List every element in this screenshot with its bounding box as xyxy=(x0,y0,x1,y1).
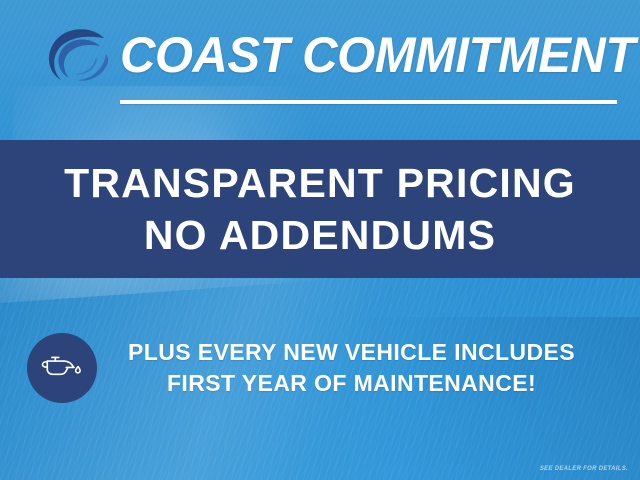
offer-line-1: PLUS EVERY NEW VEHICLE INCLUDES xyxy=(97,337,606,368)
page-title: COAST COMMITMENT xyxy=(120,22,612,88)
banner-header: COAST COMMITMENT xyxy=(0,0,640,120)
oil-can-badge xyxy=(27,333,97,403)
promise-band: TRANSPARENT PRICING NO ADDENDUMS xyxy=(0,140,640,278)
disclaimer-text: SEE DEALER FOR DETAILS. xyxy=(540,466,628,472)
header-divider xyxy=(120,100,617,104)
coast-wave-logo-icon xyxy=(34,24,118,96)
oil-can-icon xyxy=(40,351,84,385)
offer-text: PLUS EVERY NEW VEHICLE INCLUDES FIRST YE… xyxy=(97,337,640,398)
offer-row: PLUS EVERY NEW VEHICLE INCLUDES FIRST YE… xyxy=(0,330,640,406)
promise-line-2: NO ADDENDUMS xyxy=(144,209,496,261)
coast-commitment-banner: COAST COMMITMENT TRANSPARENT PRICING NO … xyxy=(0,0,640,480)
promise-line-1: TRANSPARENT PRICING xyxy=(64,157,576,209)
offer-line-2: FIRST YEAR OF MAINTENANCE! xyxy=(97,368,606,399)
